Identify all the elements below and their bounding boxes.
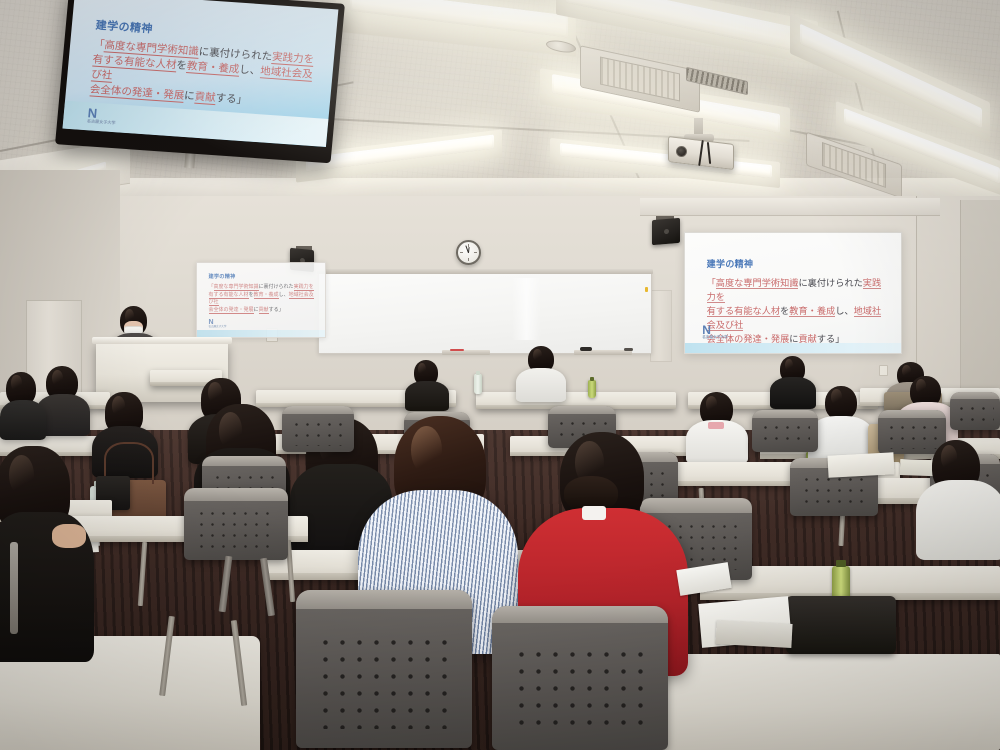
right-slide-title: 建学の精神 — [707, 257, 888, 270]
attendee-left-edge — [0, 372, 46, 434]
right-slide-logo: Ν 名古屋女子大学 — [702, 324, 728, 340]
black-handbag[interactable] — [786, 596, 896, 654]
hand — [52, 524, 86, 548]
left-slide-footer-band — [197, 330, 325, 337]
projector-lens-icon — [676, 146, 687, 157]
left-slide-line1: 「高度な専門学術知識に裏付けられた実践力を — [209, 284, 315, 292]
whiteboard-frame — [317, 269, 653, 274]
whiteboard — [318, 272, 652, 354]
chair[interactable] — [282, 406, 354, 452]
chair[interactable] — [492, 606, 668, 750]
chair[interactable] — [752, 410, 818, 452]
whiteboard-marker-tray — [442, 350, 490, 355]
paper-handout[interactable] — [827, 452, 894, 477]
attendee-foreground-left-edge — [0, 446, 96, 646]
monitor-slide-logo: Ν 名古屋女子大学 — [87, 106, 117, 125]
logo-name: 名古屋女子大学 — [702, 336, 728, 340]
collar — [582, 506, 606, 520]
water-bottle[interactable] — [474, 374, 482, 394]
attendee-body — [516, 368, 566, 402]
jacket-stripe — [10, 542, 18, 634]
podium-top — [92, 337, 232, 344]
wall-clock — [456, 240, 481, 265]
left-slide-line3: 会全体の発達・発展に貢献する」 — [209, 307, 315, 315]
monitor-screen: 建学の精神 「高度な専門学術知識に裏付けられた実践力を 有する有能な人材を教育・… — [62, 0, 338, 147]
logo-name: 名古屋女子大学 — [209, 326, 227, 329]
back-door[interactable] — [650, 290, 672, 362]
whiteboard-eraser[interactable] — [580, 347, 592, 351]
wall-speaker-right — [652, 218, 680, 245]
attendee-white-blouse — [686, 392, 748, 458]
attendee-body — [0, 400, 46, 440]
attendee-right-near — [916, 440, 1000, 550]
green-tea-bottle[interactable] — [588, 380, 596, 398]
left-slide-title: 建学の精神 — [209, 273, 315, 280]
chair[interactable] — [296, 590, 472, 748]
whiteboard-marker-red[interactable] — [450, 349, 464, 351]
right-slide-line2: 有する有能な人材を教育・養成し、地域社会及び社 — [707, 305, 888, 333]
lanyard — [708, 422, 724, 429]
whiteboard-marker-black[interactable] — [624, 348, 633, 351]
left-slide-logo: Ν 名古屋女子大学 — [209, 319, 227, 329]
projection-screen-right: 建学の精神 「高度な専門学術知識に裏付けられた実践力を 有する有能な人材を教育・… — [684, 232, 902, 354]
lecture-hall-photo: 建学の精神 「高度な専門学術知識に裏付けられた実践力を 有する有能な人材を教育・… — [0, 0, 1000, 750]
whiteboard-sheen — [512, 278, 542, 340]
whiteboard-magnet — [645, 287, 648, 292]
chair[interactable] — [184, 488, 288, 560]
attendee-white-shirt — [516, 346, 566, 398]
right-slide-footer-band — [685, 343, 901, 353]
attendee-body — [405, 381, 449, 411]
attendee-body — [916, 480, 1000, 560]
chair[interactable] — [950, 392, 1000, 430]
right-soffit — [640, 198, 940, 216]
paper-handout[interactable] — [715, 620, 792, 648]
right-slide-line1: 「高度な専門学術知識に裏付けられた実践力を — [707, 277, 888, 305]
left-slide-line2: 有する有能な人材を教育・養成し、地域社会及び社 — [209, 292, 315, 307]
ceiling-hung-monitor[interactable]: 建学の精神 「高度な専門学術知識に裏付けられた実践力を 有する有能な人材を教育・… — [55, 0, 345, 163]
attendee-dark-back-left — [405, 360, 449, 410]
projection-screen-left: 建学の精神 「高度な専門学術知識に裏付けられた実践力を 有する有能な人材を教育・… — [196, 262, 326, 338]
